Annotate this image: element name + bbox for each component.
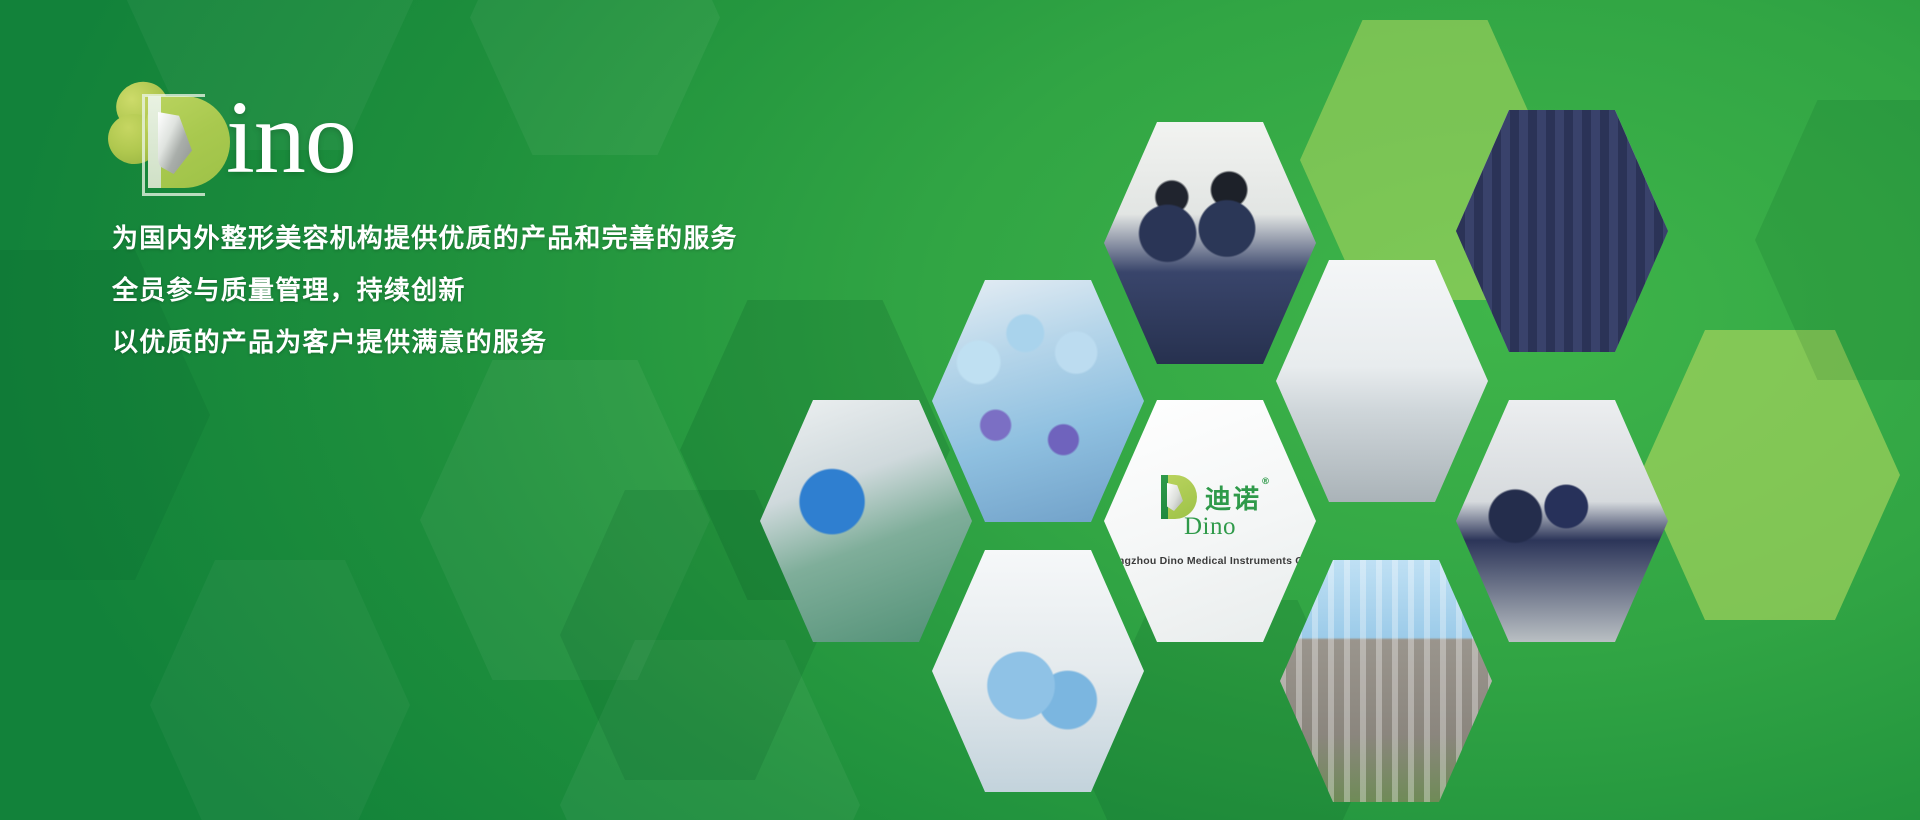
center-logo-hexagon: 迪诺®DinoHangzhou Dino Medical Instruments… — [1104, 400, 1316, 642]
hero-banner: ino 为国内外整形美容机构提供优质的产品和完善的服务 全员参与质量管理，持续创… — [0, 0, 1920, 820]
center-company-name: Hangzhou Dino Medical Instruments Co.. — [1104, 555, 1316, 567]
photo-hex-inspection-image — [1104, 122, 1316, 364]
tagline-3: 以优质的产品为客户提供满意的服务 — [112, 317, 738, 369]
dino-logo: ino — [108, 78, 428, 188]
tagline-1: 为国内外整形美容机构提供优质的产品和完善的服务 — [112, 213, 738, 265]
tagline-list: 为国内外整形美容机构提供优质的产品和完善的服务 全员参与质量管理，持续创新 以优… — [112, 213, 738, 369]
hero-copy-block: ino 为国内外整形美容机构提供优质的产品和完善的服务 全员参与质量管理，持续创… — [0, 0, 860, 820]
center-brand-row: 迪诺® — [1159, 475, 1261, 519]
photo-hex-cleanroom-team — [932, 280, 1144, 522]
photo-hex-laboratory-image — [1276, 260, 1488, 502]
photo-hex-cleanroom-team-image — [932, 280, 1144, 522]
hexagon-photo-collage: 迪诺®DinoHangzhou Dino Medical Instruments… — [820, 100, 1920, 740]
brand-wordmark: ino — [226, 86, 356, 190]
photo-hex-cnc-training — [1456, 400, 1668, 642]
photo-hex-staff-group-image — [1456, 110, 1668, 352]
photo-hex-staff-group — [1456, 110, 1668, 352]
d-mark-icon — [138, 96, 230, 188]
photo-hex-cnc-training-image — [1456, 400, 1668, 642]
dino-d-mark-icon — [1159, 475, 1197, 519]
photo-hex-laboratory — [1276, 260, 1488, 502]
center-brand-name-cn: 迪诺® — [1205, 479, 1261, 516]
photo-hex-inspection — [1104, 122, 1316, 364]
tagline-2: 全员参与质量管理，持续创新 — [112, 265, 738, 317]
